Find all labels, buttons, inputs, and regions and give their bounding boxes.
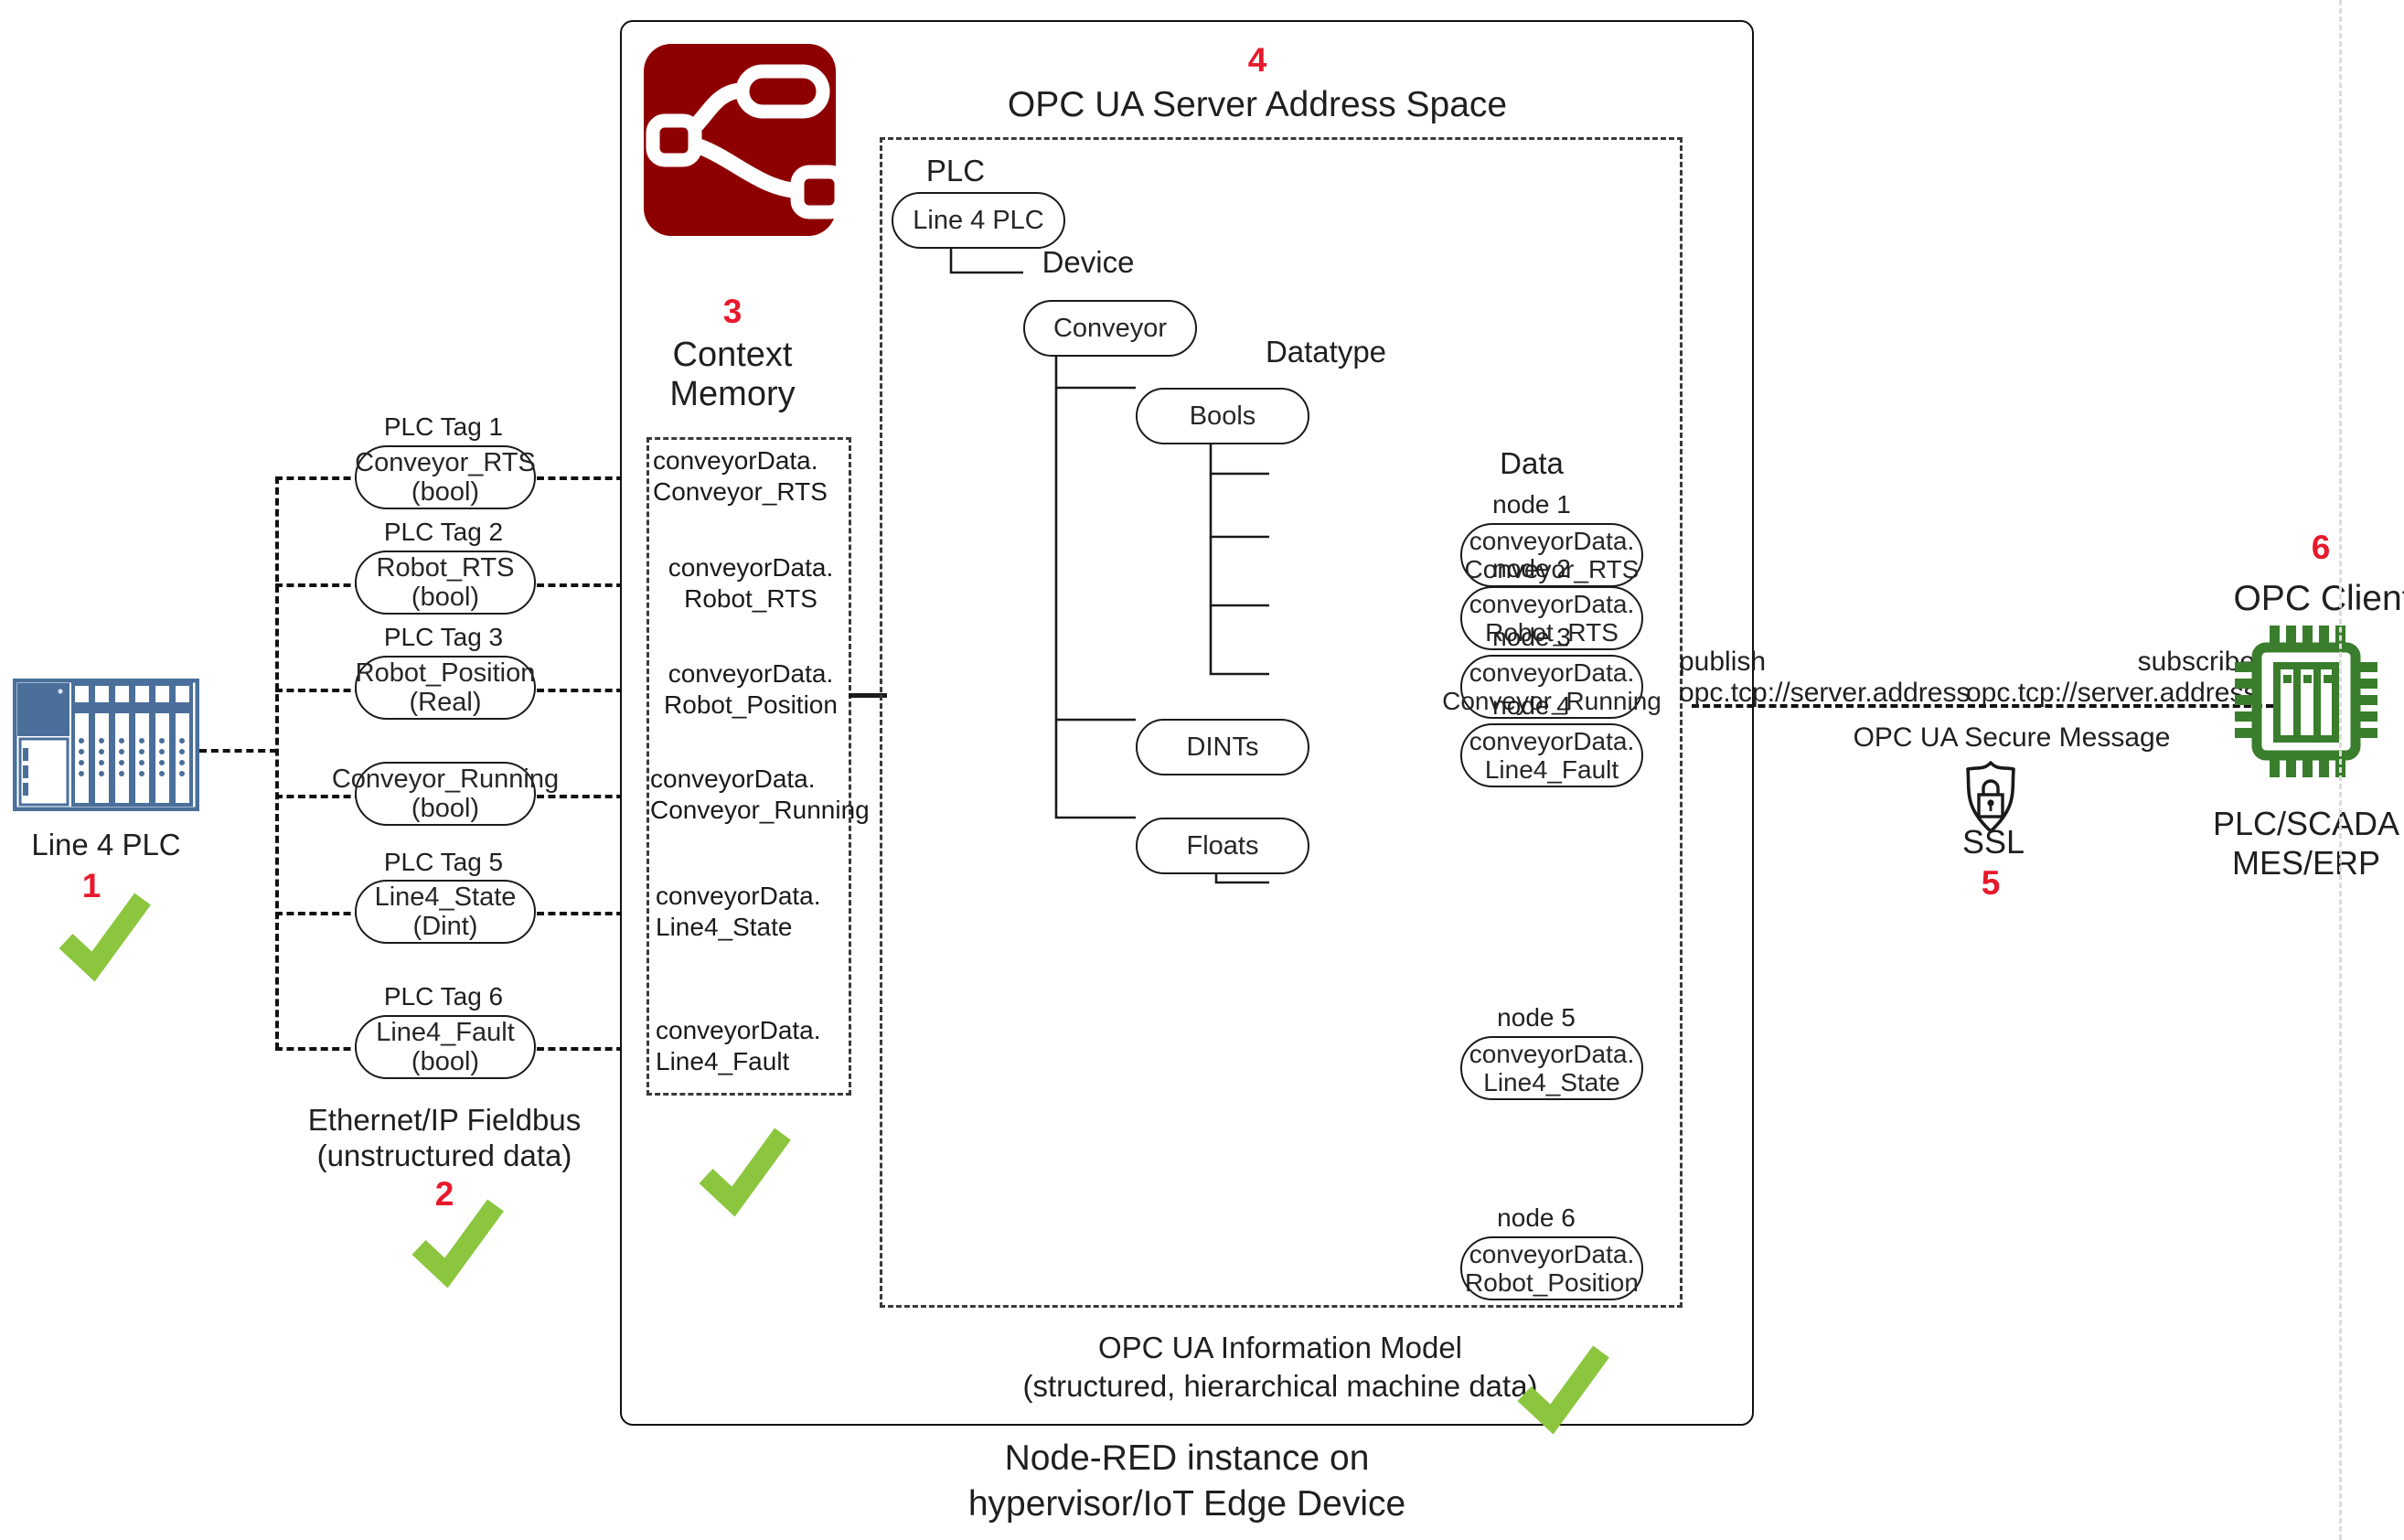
step-number-4: 4 — [1239, 41, 1276, 80]
data-node-line2-5: Line4_State — [1483, 1068, 1619, 1096]
context-entry-line2-5: Line4_State — [656, 912, 859, 943]
data-node-caption-3: node 3 — [1449, 622, 1614, 652]
fieldbus-stem-5 — [275, 912, 362, 915]
tree-node-line4-plc-label: Line 4 PLC — [913, 206, 1044, 235]
tree-plc-label: PLC — [892, 154, 1020, 189]
opc-client-sub-line1: PLC/SCADA — [2142, 805, 2404, 843]
plc-tag-name-6: Line4_Fault — [376, 1018, 515, 1047]
tree-data-label: Data — [1449, 446, 1614, 482]
tree-node-dints-label: DINTs — [1187, 733, 1259, 762]
fieldbus-stem-4 — [275, 795, 362, 798]
data-node-caption-6: node 6 — [1454, 1203, 1619, 1233]
data-node-caption-1: node 1 — [1449, 489, 1614, 519]
plc-tag-name-1: Conveyor_RTS — [355, 448, 536, 477]
context-entry-line1-1: conveyorData. — [653, 445, 856, 476]
tree-device-label: Device — [1006, 245, 1170, 281]
data-node-4[interactable]: conveyorData. Line4_Fault — [1460, 723, 1643, 787]
context-entry-line2-4: Conveyor_Running — [650, 795, 859, 826]
green-checkmark-icon-2 — [408, 1189, 508, 1294]
fieldbus-stem-3 — [275, 689, 362, 692]
node-red-caption-line1: Node-RED instance on — [821, 1438, 1553, 1480]
context-entry-line1-5: conveyorData. — [656, 881, 859, 912]
step-number-6: 6 — [2302, 529, 2339, 567]
node-red-logo-icon — [640, 40, 839, 240]
data-node-5[interactable]: conveyorData. Line4_State — [1460, 1036, 1643, 1100]
data-node-line2-6: Robot_Position — [1465, 1268, 1639, 1297]
data-node-line1-4: conveyorData. — [1469, 727, 1635, 755]
context-memory-entry-4: conveyorData. Conveyor_Running — [646, 764, 859, 825]
green-checkmark-icon-4 — [1513, 1335, 1614, 1440]
publish-label: publish — [1679, 646, 1862, 678]
canvas-right-boundary — [2339, 0, 2342, 1540]
plc-tag-type-2: (bool) — [411, 583, 479, 612]
ssl-label: SSL — [1902, 823, 2085, 861]
fieldbus-label-line2: (unstructured data) — [252, 1139, 636, 1174]
plc-tag-type-5: (Dint) — [413, 912, 478, 941]
plc-tag-name-2: Robot_RTS — [377, 553, 515, 583]
data-node-caption-2: node 2 — [1449, 553, 1614, 583]
fieldbus-stem-6 — [275, 1047, 362, 1051]
plc-tag-node-3[interactable]: Robot_Position (Real) — [355, 656, 536, 720]
node-red-caption-line2: hypervisor/IoT Edge Device — [821, 1483, 1553, 1525]
plc-tag-caption-3: PLC Tag 3 — [347, 622, 540, 652]
opc-client-title: OPC Client — [2140, 578, 2404, 620]
context-entry-line2-3: Robot_Position — [649, 690, 852, 721]
tree-datatype-label: Datatype — [1234, 335, 1417, 370]
plc-rack-icon — [13, 679, 199, 811]
plc-tag-type-1: (bool) — [411, 477, 479, 507]
fieldbus-stem-1 — [275, 476, 362, 480]
context-entry-line2-2: Robot_RTS — [649, 583, 852, 615]
plc-tag-name-3: Robot_Position — [356, 658, 536, 688]
context-entry-line2-6: Line4_Fault — [656, 1046, 859, 1077]
context-entry-line1-4: conveyorData. — [650, 764, 859, 795]
data-node-line1-1: conveyorData. — [1469, 527, 1635, 555]
plc-tag-name-5: Line4_State — [375, 882, 517, 912]
plc-tag-type-6: (bool) — [411, 1047, 479, 1076]
tree-node-bools[interactable]: Bools — [1136, 388, 1309, 444]
data-node-line2-4: Line4_Fault — [1485, 755, 1619, 784]
tree-node-bools-label: Bools — [1190, 401, 1256, 431]
data-node-6[interactable]: conveyorData. Robot_Position — [1460, 1236, 1643, 1300]
fieldbus-label-line1: Ethernet/IP Fieldbus — [252, 1103, 636, 1139]
data-node-line1-3: conveyorData. — [1469, 658, 1635, 687]
tree-node-floats[interactable]: Floats — [1136, 818, 1309, 874]
fieldbus-stem-2 — [275, 583, 362, 587]
tree-node-line4-plc[interactable]: Line 4 PLC — [892, 192, 1065, 249]
subscribe-label: subscribe — [2063, 646, 2255, 678]
plc-tag-node-5[interactable]: Line4_State (Dint) — [355, 880, 536, 944]
tree-node-dints[interactable]: DINTs — [1136, 719, 1309, 775]
plc-tag-node-1[interactable]: Conveyor_RTS (bool) — [355, 445, 536, 509]
context-memory-entry-2: conveyorData. Robot_RTS — [649, 552, 852, 614]
plc-tag-caption-2: PLC Tag 2 — [347, 517, 540, 547]
fieldbus-bus-vertical — [275, 476, 279, 1050]
step-number-3: 3 — [714, 293, 751, 331]
plc-tag-type-3: (Real) — [410, 688, 482, 717]
context-memory-entry-3: conveyorData. Robot_Position — [649, 658, 852, 720]
fieldbus-to-plc-link — [199, 749, 277, 753]
microchip-icon — [2233, 624, 2379, 779]
data-node-line1-2: conveyorData. — [1469, 590, 1635, 618]
tree-node-floats-label: Floats — [1187, 831, 1259, 861]
context-memory-entry-5: conveyorData. Line4_State — [652, 881, 859, 942]
opc-client-sub-line2: MES/ERP — [2142, 844, 2404, 882]
context-memory-label-line2: Memory — [623, 374, 842, 415]
data-node-caption-4: node 4 — [1449, 690, 1614, 721]
green-checkmark-icon-3 — [695, 1118, 796, 1223]
plc-tag-node-4[interactable]: Conveyor_Running (bool) — [355, 762, 536, 826]
plc-tag-node-2[interactable]: Robot_RTS (bool) — [355, 551, 536, 615]
subscribe-url: opc.tcp://server.address — [1966, 677, 2255, 709]
plc-tag-node-6[interactable]: Line4_Fault (bool) — [355, 1015, 536, 1079]
context-entry-line1-3: conveyorData. — [649, 658, 852, 690]
context-memory-entry-1: conveyorData. Conveyor_RTS — [649, 445, 856, 507]
data-node-line1-5: conveyorData. — [1469, 1040, 1635, 1068]
context-entry-line1-6: conveyorData. — [656, 1015, 859, 1046]
address-space-title: OPC UA Server Address Space — [878, 84, 1637, 126]
context-entry-line1-2: conveyorData. — [649, 552, 852, 583]
data-node-caption-5: node 5 — [1454, 1002, 1619, 1032]
tree-node-conveyor[interactable]: Conveyor — [1023, 300, 1197, 357]
context-memory-entry-6: conveyorData. Line4_Fault — [652, 1015, 859, 1076]
data-node-line1-6: conveyorData. — [1469, 1240, 1635, 1268]
plc-tag-caption-6: PLC Tag 6 — [347, 981, 540, 1011]
plc-tag-caption-5: PLC Tag 5 — [347, 847, 540, 877]
plc-tag-name-4: Conveyor_Running — [332, 765, 559, 794]
green-checkmark-icon-1 — [55, 882, 155, 988]
plc-tag-caption-1: PLC Tag 1 — [347, 412, 540, 442]
plc-tag-type-4: (bool) — [411, 794, 479, 823]
tree-node-conveyor-label: Conveyor — [1053, 314, 1167, 343]
secure-message-label: OPC UA Secure Message — [1820, 722, 2204, 754]
publish-url: opc.tcp://server.address — [1679, 677, 1962, 709]
context-memory-label-line1: Context — [623, 335, 842, 376]
context-entry-line2-1: Conveyor_RTS — [653, 476, 856, 508]
step-number-5: 5 — [1972, 864, 2009, 903]
plc-caption: Line 4 PLC — [0, 828, 212, 863]
